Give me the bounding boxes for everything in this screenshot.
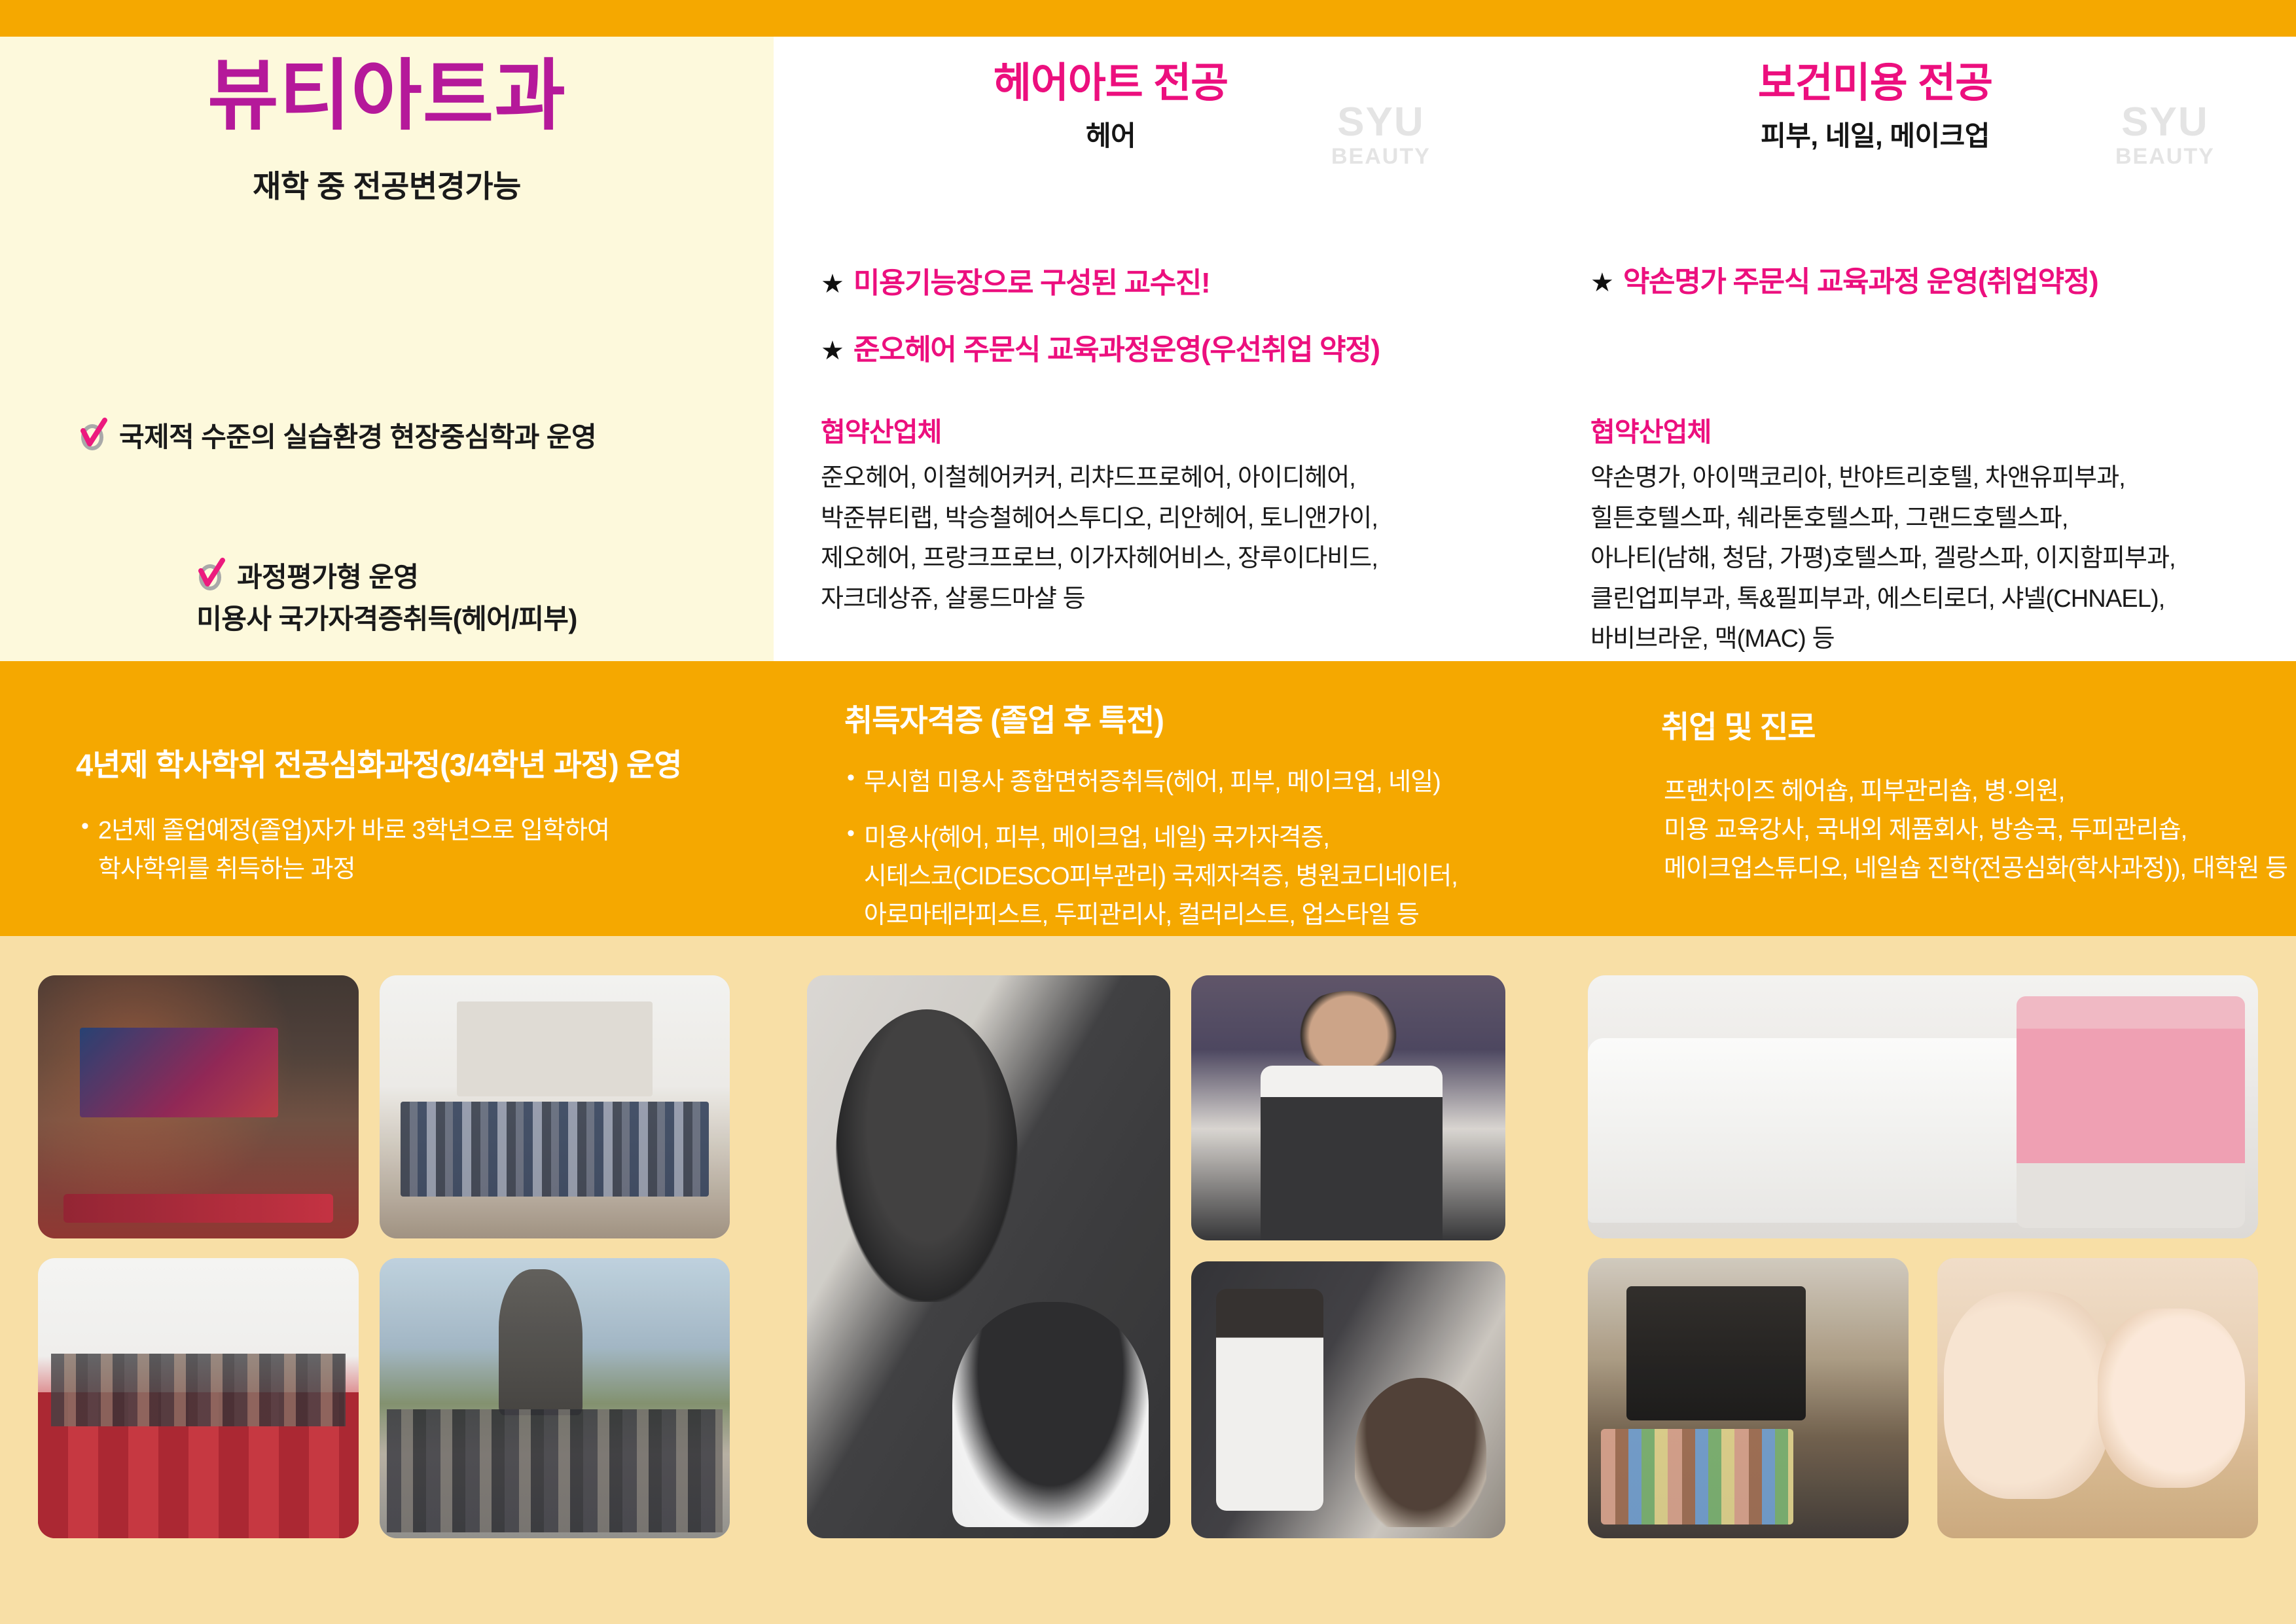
band-career-lines: 프랜차이즈 헤어숍, 피부관리숍, 병·의원, 미용 교육강사, 국내외 제품회… [1636,772,2296,888]
major-health-subtitle: 피부, 네일, 메이크업 [1546,114,2204,154]
department-feature-2: 과정평가형 운영 [196,555,418,595]
partners-line: 아나티(남해, 청담, 가평)호텔스파, 겔랑스파, 이지함피부과, [1590,539,2296,579]
band-bullet-line: 학사학위를 취득하는 과정 [98,850,609,889]
band-bullet-line: 미용사(헤어, 피부, 메이크업, 네일) 국가자격증, [864,819,1458,857]
beauty-logo-text: BEAUTY [1331,145,1431,168]
brochure-page: 뷰티아트과 재학 중 전공변경가능 국제적 수준의 실습환경 현장중심학과 운영… [0,0,2296,1624]
partners-line: 바비브라운, 맥(MAC) 등 [1590,619,2296,660]
highlight-label: 준오헤어 주문식 교육과정운영(우선취업 약정) [853,326,1380,368]
photo-blowdry-styling [1191,1261,1505,1538]
top-accent-bar [0,0,2296,37]
band-title: 취득자격증 (졸업 후 특전) [844,695,1164,740]
major-hair-highlights: ★ 미용기능장으로 구성된 교수진! ★ 준오헤어 주문식 교육과정운영(우선취… [774,259,1593,393]
band-career-line: 메이크업스튜디오, 네일숍 진학(전공심화(학사과정)), 대학원 등 [1664,850,2296,888]
department-title: 뷰티아트과 [0,58,774,135]
star-icon: ★ [821,271,844,297]
band-career-line: 프랜차이즈 헤어숍, 피부관리숍, 병·의원, [1664,772,2296,811]
partners-line: 박준뷰티랩, 박승철헤어스투디오, 리안헤어, 토니앤가이, [821,499,1593,539]
band-bullet: • 무시험 미용사 종합면허증취득(헤어, 피부, 메이크업, 네일) [847,763,1657,802]
syu-beauty-logo: SYU BEAUTY [2115,102,2215,168]
band-bullet-list: • 2년제 졸업예정(졸업)자가 바로 3학년으로 입학하여 학사학위를 취득하… [0,812,907,906]
department-subtitle: 재학 중 전공변경가능 [0,161,774,206]
major-column-health-beauty: 보건미용 전공 피부, 네일, 메이크업 SYU BEAUTY ★ 약손명가 주… [1546,37,2296,661]
band-title: 4년제 학사학위 전공심화과정(3/4학년 과정) 운영 [76,740,681,785]
band-bullet-line: 아로마테라피스트, 두피관리사, 컬러리스트, 업스타일 등 [864,896,1458,935]
photo-makeup-kit [1588,1258,1909,1538]
band-bullet-line: 시테스코(CIDESCO피부관리) 국제자격증, 병원코디네이터, [864,857,1458,896]
highlight-label: 약손명가 주문식 교육과정 운영(취업약정) [1623,258,2098,300]
beauty-logo-text: BEAUTY [2115,145,2215,168]
department-certification-line: 미용사 국가자격증취득(헤어/피부) [0,597,774,637]
major-hair-partners: 협약산업체 준오헤어, 이철헤어커커, 리챠드프로헤어, 아이디헤어, 박준뷰티… [774,410,1593,619]
partners-line: 약손명가, 아이맥코리아, 반야트리호텔, 차앤유피부과, [1590,458,2296,499]
band-column-careers: 취업 및 진로 프랜차이즈 헤어숍, 피부관리숍, 병·의원, 미용 교육강사,… [1636,661,2296,936]
band-bullet-list: • 무시험 미용사 종합면허증취득(헤어, 피부, 메이크업, 네일) • 미용… [826,763,1657,952]
band-career-line: 미용 교육강사, 국내외 제품회사, 방송국, 두피관리숍, [1664,811,2296,850]
partners-heading: 협약산업체 [1590,410,2296,449]
major-column-hair-art: 헤어아트 전공 헤어 SYU BEAUTY ★ 미용기능장으로 구성된 교수진!… [774,37,1546,661]
highlight-label: 미용기능장으로 구성된 교수진! [853,259,1210,301]
department-feature-1: 국제적 수준의 실습환경 현장중심학과 운영 [79,415,596,455]
partners-line: 자크데상쥬, 살롱드마샬 등 [821,579,1593,620]
syu-logo-text: SYU [2115,102,2215,143]
bullet-dot-icon: • [847,763,855,802]
photo-skincare-lab [1588,975,2258,1238]
bullet-dot-icon: • [81,812,89,889]
partners-line: 준오헤어, 이철헤어커커, 리챠드프로헤어, 아이디헤어, [821,458,1593,499]
highlight-item: ★ 약손명가 주문식 교육과정 운영(취업약정) [1590,258,2296,300]
partners-line: 힐튼호텔스파, 쉐라톤호텔스파, 그랜드호텔스파, [1590,499,2296,539]
photo-haircut-practice [807,975,1170,1538]
check-circle-icon [196,558,226,593]
band-column-certificates: 취득자격증 (졸업 후 특전) • 무시험 미용사 종합면허증취득(헤어, 피부… [826,661,1636,936]
major-health-partners: 협약산업체 약손명가, 아이맥코리아, 반야트리호텔, 차앤유피부과, 힐튼호텔… [1546,410,2296,660]
photo-lecture-hall-students [38,1258,359,1538]
department-panel: 뷰티아트과 재학 중 전공변경가능 국제적 수준의 실습환경 현장중심학과 운영… [0,37,774,661]
photo-male-stylist-portrait [1191,975,1505,1240]
major-hair-title: 헤어아트 전공 [774,62,1448,105]
band-bullet: • 미용사(헤어, 피부, 메이크업, 네일) 국가자격증, 시테스코(CIDE… [847,819,1657,935]
band-bullet-line: 무시험 미용사 종합면허증취득(헤어, 피부, 메이크업, 네일) [864,763,1441,802]
partners-heading: 협약산업체 [821,410,1593,449]
major-health-title: 보건미용 전공 [1546,62,2204,105]
partners-line: 제오헤어, 프랑크프로브, 이가자헤어비스, 장루이다비드, [821,539,1593,579]
band-bullet: • 2년제 졸업예정(졸업)자가 바로 3학년으로 입학하여 학사학위를 취득하… [81,812,907,889]
star-icon: ★ [1590,270,1614,296]
star-icon: ★ [821,338,844,364]
band-title: 취업 및 진로 [1661,702,1815,747]
partners-line: 클린업피부과, 톡&필피부과, 에스티로더, 샤넬(CHNAEL), [1590,579,2296,620]
band-column-degree-program: 4년제 학사학위 전공심화과정(3/4학년 과정) 운영 • 2년제 졸업예정(… [0,661,826,936]
major-health-highlights: ★ 약손명가 주문식 교육과정 운영(취업약정) [1546,258,2296,325]
highlight-item: ★ 준오헤어 주문식 교육과정운영(우선취업 약정) [821,326,1593,368]
check-circle-icon [79,418,109,453]
bullet-dot-icon: • [847,819,855,935]
syu-logo-text: SYU [1331,102,1431,143]
highlight-item: ★ 미용기능장으로 구성된 교수진! [821,259,1593,301]
department-feature-1-label: 국제적 수준의 실습환경 현장중심학과 운영 [119,415,596,455]
photo-jeju-field-trip [380,1258,730,1538]
band-bullet-line: 2년제 졸업예정(졸업)자가 바로 3학년으로 입학하여 [98,812,609,850]
syu-beauty-logo: SYU BEAUTY [1331,102,1431,168]
photo-beauty-expo-contest [38,975,359,1238]
photo-final-contest-ceremony [380,975,730,1238]
info-band: 4년제 학사학위 전공심화과정(3/4학년 과정) 운영 • 2년제 졸업예정(… [0,661,2296,936]
photo-nail-art [1937,1258,2258,1538]
department-feature-2-label: 과정평가형 운영 [237,555,418,595]
